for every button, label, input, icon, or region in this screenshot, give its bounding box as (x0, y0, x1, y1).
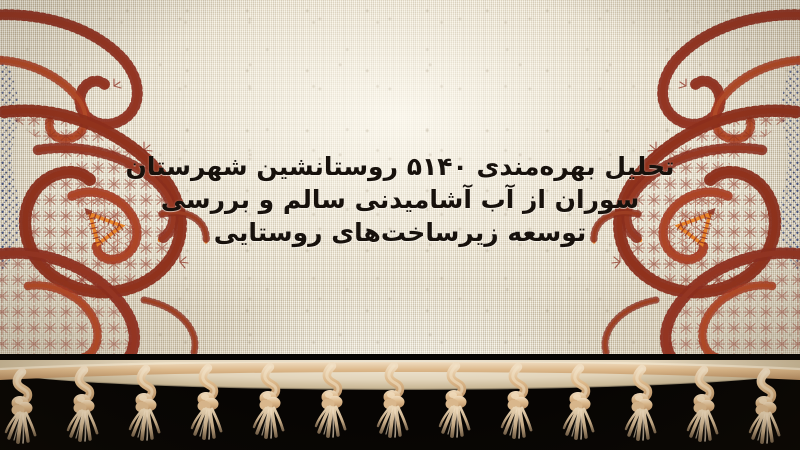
slide-canvas: تحلیل بهره‌مندی ۵۱۴۰ روستانشین شهرستان س… (0, 0, 800, 450)
linen-fabric-background (0, 0, 800, 392)
